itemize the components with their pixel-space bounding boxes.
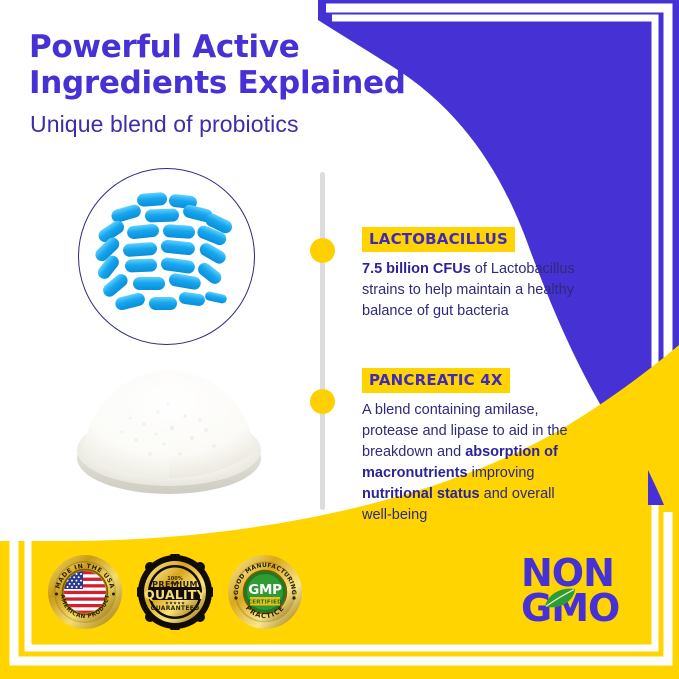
premium-quality-badge: 100% PREMIUM QUALITY GUARANTEED ★★★ ★★★★… xyxy=(137,554,213,630)
certification-badges: MADE IN THE USA AMERICAN PRODUCT xyxy=(47,554,303,630)
made-in-usa-icon: MADE IN THE USA AMERICAN PRODUCT xyxy=(47,554,123,630)
ingredient-block-pancreatic-4x: PANCREATIC 4X A blend containing amilase… xyxy=(362,368,587,526)
ingredient-description: 7.5 billion CFUs of Lactobacillus strain… xyxy=(362,259,587,322)
ingredient-tag: PANCREATIC 4X xyxy=(362,368,510,393)
gmp-certified-icon: GMP CERTIFIED GOOD MANUFACTURING PRACTIC… xyxy=(227,554,303,630)
page-subtitle: Unique blend of probiotics xyxy=(30,111,499,138)
timeline-rail xyxy=(320,172,325,510)
gmp-center-line2: CERTIFIED xyxy=(248,600,282,606)
svg-text:★★★★★: ★★★★★ xyxy=(165,601,186,606)
non-gmo-logo: NON GMO xyxy=(521,556,639,632)
gmp-certified-badge: GMP CERTIFIED GOOD MANUFACTURING PRACTIC… xyxy=(227,554,303,630)
timeline-dot-pancreatic xyxy=(310,389,335,414)
badge-line4: GUARANTEED xyxy=(151,605,200,612)
leaf-icon xyxy=(543,587,577,609)
premium-quality-icon: 100% PREMIUM QUALITY GUARANTEED ★★★ ★★★★… xyxy=(137,554,213,630)
bacteria-illustration xyxy=(78,168,255,345)
svg-text:★★★: ★★★ xyxy=(170,581,181,586)
bacteria-rods-icon xyxy=(79,169,254,344)
page-title: Powerful Active Ingredients Explained xyxy=(29,30,499,102)
timeline-dot-lactobacillus xyxy=(310,238,335,263)
ingredient-description: A blend containing amilase, protease and… xyxy=(362,400,587,526)
gmp-center-line1: GMP xyxy=(248,582,282,598)
ingredient-block-lactobacillus: LACTOBACILLUS 7.5 billion CFUs of Lactob… xyxy=(362,227,587,322)
infographic-canvas: Powerful Active Ingredients Explained Un… xyxy=(0,0,679,679)
powder-dish-icon xyxy=(72,358,267,506)
made-in-usa-badge: MADE IN THE USA AMERICAN PRODUCT xyxy=(47,554,123,630)
enzyme-powder-photo xyxy=(72,358,267,506)
non-gmo-line2: GMO xyxy=(521,591,639,626)
ingredient-tag: LACTOBACILLUS xyxy=(362,227,515,252)
header: Powerful Active Ingredients Explained Un… xyxy=(29,30,499,138)
